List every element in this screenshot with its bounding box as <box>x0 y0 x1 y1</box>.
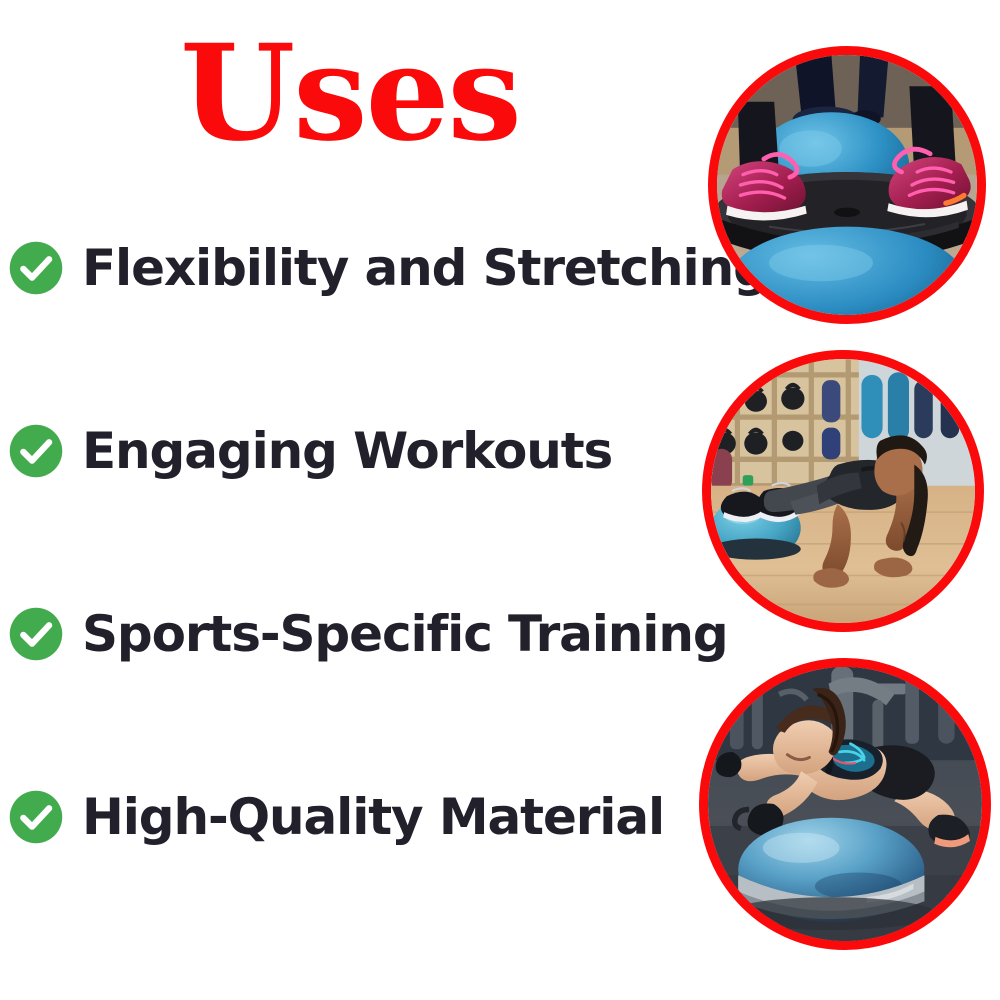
feature-label: Sports-Specific Training <box>82 594 728 674</box>
page-title: Uses <box>0 28 700 160</box>
feature-label: Flexibility and Stretching <box>82 228 768 308</box>
photo-feet-on-bosu-platform <box>708 46 986 324</box>
list-item: Sports-Specific Training <box>0 594 715 777</box>
uses-infographic-poster: Uses Flexibility and Stretching Engaging… <box>0 0 1000 1000</box>
feature-label: Engaging Workouts <box>82 411 612 491</box>
check-circle-icon <box>8 606 64 662</box>
list-item: Engaging Workouts <box>0 411 715 594</box>
photo-plank-feet-on-bosu <box>702 350 984 632</box>
feature-list: Flexibility and Stretching Engaging Work… <box>0 228 715 960</box>
check-circle-icon <box>8 789 64 845</box>
list-item: Flexibility and Stretching <box>0 228 715 411</box>
feature-label: High-Quality Material <box>82 777 664 857</box>
list-item: High-Quality Material <box>0 777 715 960</box>
check-circle-icon <box>8 423 64 479</box>
check-circle-icon <box>8 240 64 296</box>
photo-forearm-plank-on-bosu <box>699 658 991 950</box>
